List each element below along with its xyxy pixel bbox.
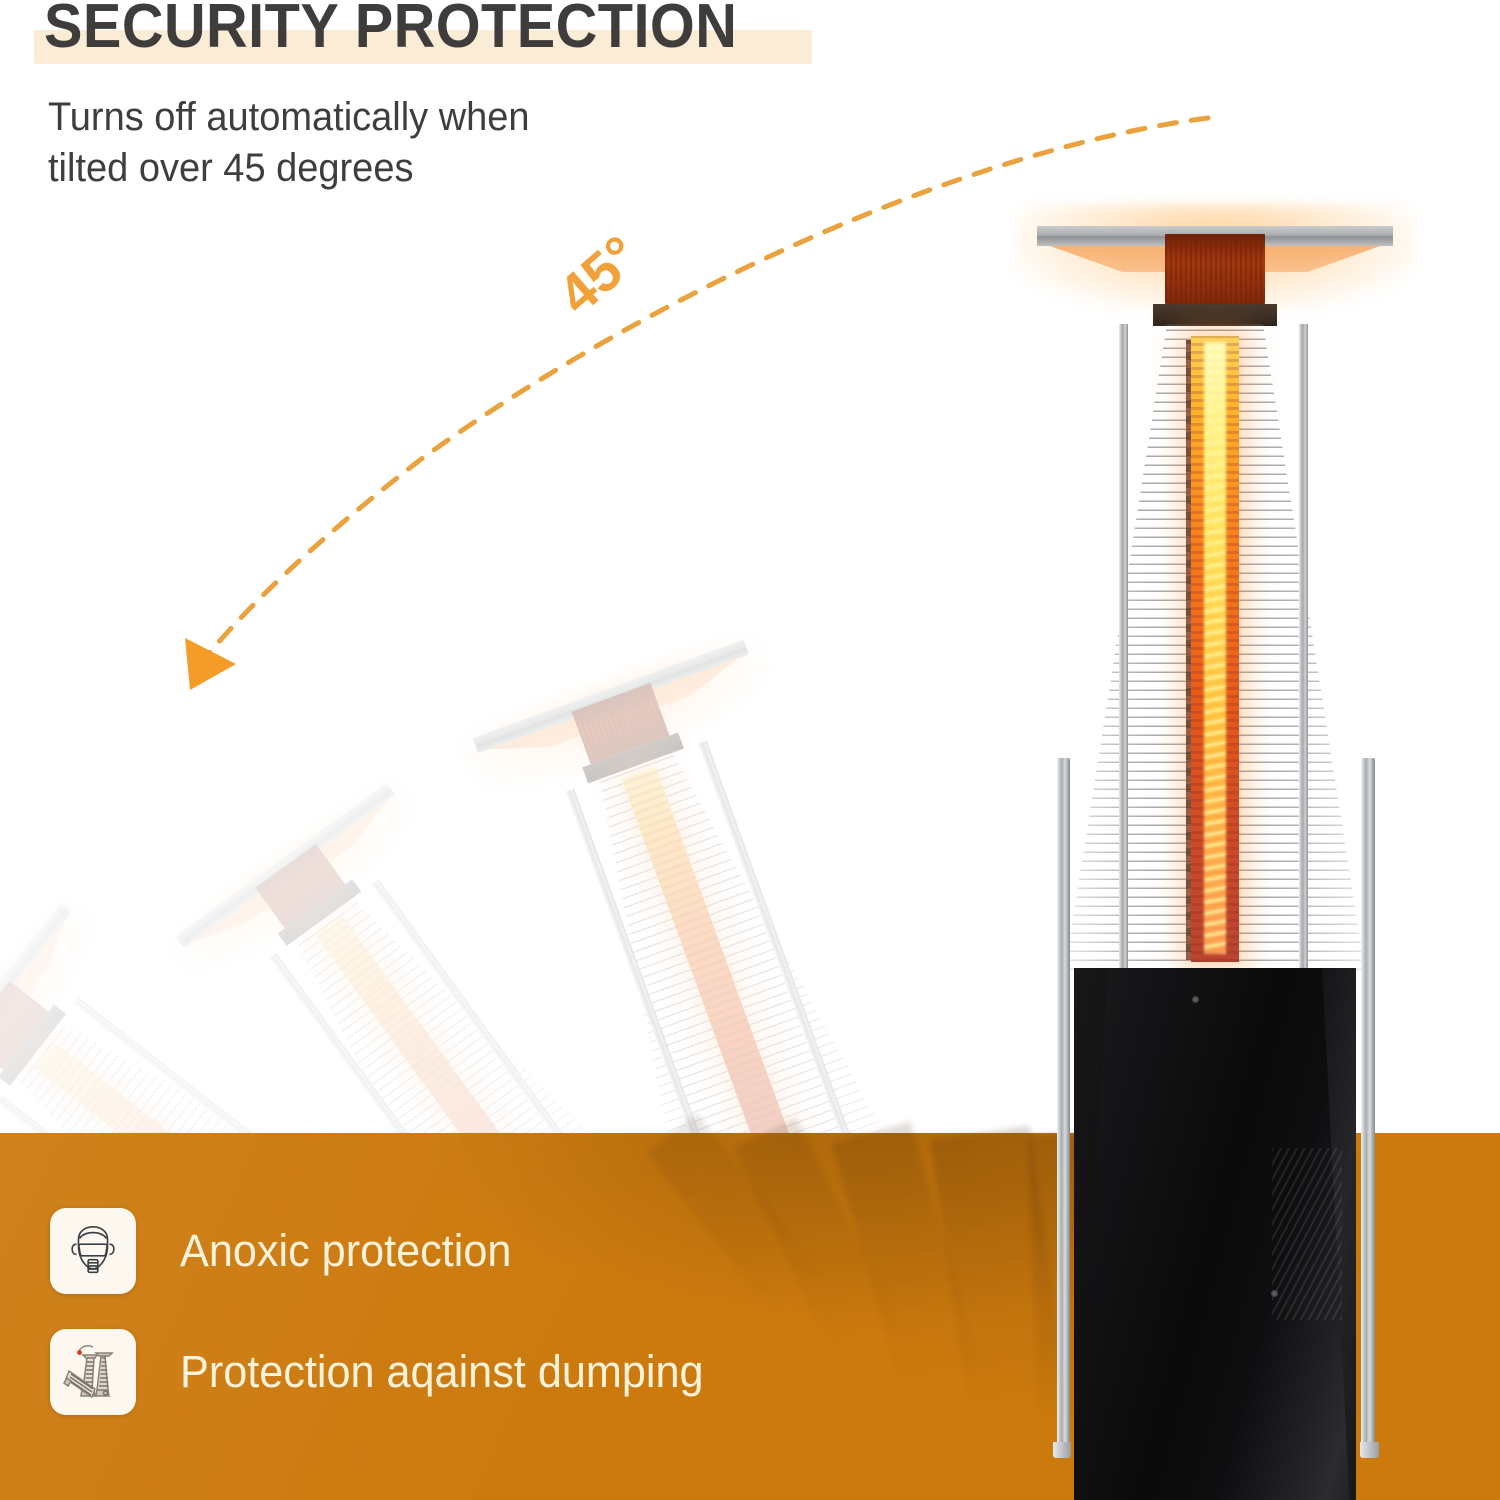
ghost-shadow-3 (832, 1122, 994, 1433)
page-title: SECURITY PROTECTION (44, 0, 737, 62)
feature-item-anoxic-protection[interactable]: Anoxic protection (50, 1208, 525, 1294)
tilt-arrow-head (185, 638, 236, 690)
feature-label-anoxic-protection: Anoxic protection (180, 1225, 511, 1277)
ghost-shadow-2 (734, 1118, 915, 1391)
tipping-heater-icon (50, 1329, 136, 1415)
infographic-canvas: SECURITY PROTECTION Turns off automatica… (0, 0, 1500, 1500)
base-screw-side (1271, 1290, 1278, 1297)
cage-post-left (1119, 324, 1128, 970)
burner-neck (1153, 304, 1277, 326)
foot-right (1360, 1442, 1379, 1458)
burner-box (1165, 234, 1265, 304)
gas-mask-icon (50, 1208, 136, 1294)
cage-post-right (1299, 324, 1308, 970)
feature-item-dump-protection[interactable]: Protection aqainst dumping (50, 1329, 725, 1415)
feature-label-dump-protection: Protection aqainst dumping (180, 1346, 704, 1398)
base-vent-grille (1272, 1148, 1342, 1320)
angle-label: 45° (545, 222, 652, 327)
page-subtitle: Turns off automatically when tilted over… (48, 92, 530, 194)
heater-base (1074, 968, 1356, 1500)
ghost-shadow-1 (647, 1113, 845, 1342)
base-screw-top (1192, 996, 1199, 1003)
patio-heater-upright (1020, 218, 1410, 1458)
foot-left (1053, 1442, 1071, 1458)
flame-core (1204, 342, 1226, 954)
leg-left (1057, 758, 1070, 1458)
leg-right (1361, 758, 1375, 1458)
